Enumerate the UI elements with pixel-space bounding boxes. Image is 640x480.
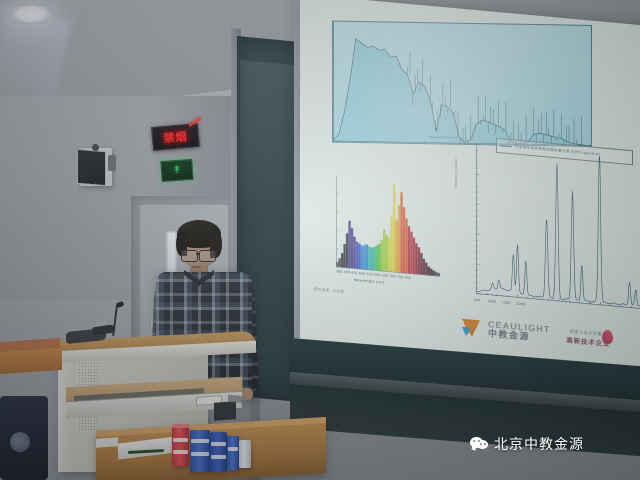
presenter-mouth bbox=[192, 266, 201, 268]
red-can bbox=[172, 426, 189, 466]
chart-visible-spectrum: 350 400 450 500 550 600 650 700 750 800 … bbox=[320, 168, 442, 297]
glasses-icon bbox=[199, 250, 216, 262]
secondary-logo: 国家火炬计划重点 高新技术企业 bbox=[566, 328, 610, 348]
wechat-icon bbox=[470, 437, 489, 451]
exit-arrow-icon: ↟ bbox=[172, 165, 181, 177]
watermark-label: 北京中教金源 bbox=[494, 434, 584, 454]
projection-screen: Wavelength (nm) 350 400 450 500 550 600 … bbox=[300, 0, 640, 378]
wechat-watermark: 北京中教金源 bbox=[470, 434, 584, 454]
visible-spectrum-plot bbox=[336, 175, 440, 276]
glasses-bridge bbox=[196, 253, 200, 255]
glasses-icon bbox=[181, 250, 198, 262]
blue-box-3 bbox=[227, 436, 239, 470]
slide-footer-note: 照片来源：实验室 bbox=[314, 287, 344, 295]
raman-spectrum-plot bbox=[476, 144, 640, 309]
wall-monitor-arm bbox=[108, 155, 116, 171]
wall-monitor-screen bbox=[77, 149, 106, 187]
chart3-ylabel: Intensity (counts) bbox=[454, 158, 458, 189]
solar-spectrum-plot bbox=[333, 21, 591, 146]
chart3-xticklabels: 500 1000 1500 2000 bbox=[474, 298, 525, 307]
led-sign-label: 禁烟 bbox=[163, 128, 188, 146]
chart-raman-spectrum: 合金纳米结构表面增强拉曼光谱 SERS spectrum Intensity (… bbox=[452, 128, 640, 325]
stapler bbox=[96, 437, 118, 448]
slide-content: Wavelength (nm) 350 400 450 500 550 600 … bbox=[300, 0, 640, 378]
white-can bbox=[239, 440, 251, 468]
ceiling-spotlight-icon bbox=[10, 4, 52, 24]
blue-box-2 bbox=[210, 432, 227, 472]
ceaulight-logo-text: CEAULIGHT 中教金源 bbox=[488, 320, 550, 344]
wall-monitor-camera-icon bbox=[92, 144, 99, 151]
lecture-hall-photo: 禁烟 ↟ Wavelength (nm) bbox=[0, 0, 640, 480]
chair-emblem bbox=[10, 432, 30, 452]
podium-cable-port bbox=[214, 401, 236, 421]
left-table bbox=[0, 348, 62, 374]
ceaulight-logo-icon bbox=[460, 316, 482, 340]
flame-icon bbox=[602, 329, 613, 344]
blue-box-1 bbox=[190, 430, 210, 472]
chart2-xlabel: Wavelength (nm) bbox=[354, 278, 384, 285]
emergency-exit-sign: ↟ bbox=[160, 159, 193, 182]
led-no-smoking-sign: 禁烟 bbox=[151, 123, 200, 151]
red-can-lid bbox=[172, 424, 189, 428]
